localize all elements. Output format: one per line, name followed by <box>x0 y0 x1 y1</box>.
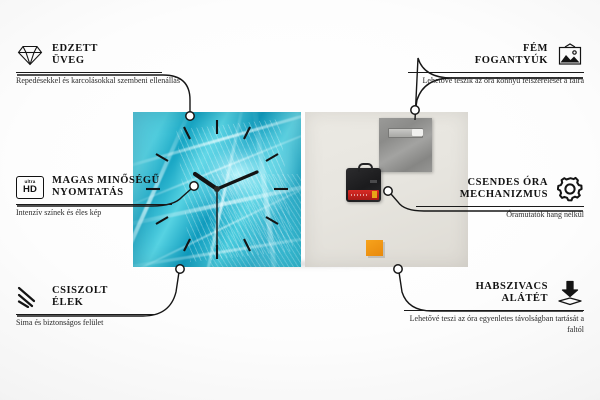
divider <box>408 72 584 73</box>
feature-subtitle: Repedésekkel és karcolásokkal szembeni e… <box>16 76 196 87</box>
feature-subtitle: Lehetővé teszi az óra egyenletes távolsá… <box>404 314 584 335</box>
feature-title: CSENDES ÓRA MECHANIZMUS <box>460 177 548 202</box>
foam-pad <box>366 240 383 256</box>
diamond-icon <box>16 41 44 69</box>
divider <box>16 72 162 73</box>
feature-title: HABSZIVACS ALÁTÉT <box>476 281 548 306</box>
feature-foam-pad: HABSZIVACS ALÁTÉT Lehetővé teszi az óra … <box>404 278 584 335</box>
ultra-hd-icon: ultra HD <box>16 173 44 201</box>
gear-icon <box>556 175 584 203</box>
feature-subtitle: Lehetővé teszik az óra könnyű felszerelé… <box>404 76 584 87</box>
foam-pad-arrow-icon <box>556 279 584 307</box>
feature-title: MAGAS MINŐSÉGŰ NYOMTATÁS <box>52 175 160 200</box>
feature-subtitle: Intenzív színek és éles kép <box>16 208 196 219</box>
feature-metal-handles: FÉM FOGANTYÚK Lehetővé teszik az óra kön… <box>404 40 584 87</box>
ultra-hd-icon-main-label: HD <box>23 185 37 195</box>
feature-title: FÉM FOGANTYÚK <box>475 43 548 68</box>
feature-header: EDZETT ÜVEG <box>16 40 196 70</box>
feature-subtitle: Sima és biztonságos felület <box>16 318 196 329</box>
divider <box>416 206 584 207</box>
battery <box>348 190 379 200</box>
feature-title: EDZETT ÜVEG <box>52 43 98 68</box>
feature-hd-print: ultra HD MAGAS MINŐSÉGŰ NYOMTATÁS Intenz… <box>16 172 196 219</box>
picture-hanger-icon <box>556 41 584 69</box>
feature-tempered-glass: EDZETT ÜVEG Repedésekkel és karcolásokka… <box>16 40 196 87</box>
feature-header: FÉM FOGANTYÚK <box>404 40 584 70</box>
feature-title: CSISZOLT ÉLEK <box>52 285 108 310</box>
infographic-canvas: EDZETT ÜVEG Repedésekkel és karcolásokka… <box>0 0 600 400</box>
feature-header: CSISZOLT ÉLEK <box>16 282 196 312</box>
clock-mechanism <box>346 168 381 202</box>
divider <box>16 314 156 315</box>
divider <box>16 204 172 205</box>
feature-header: HABSZIVACS ALÁTÉT <box>404 278 584 308</box>
feature-silent-mechanism: CSENDES ÓRA MECHANIZMUS Óramutatók hang … <box>404 174 584 221</box>
feature-polished-edges: CSISZOLT ÉLEK Sima és biztonságos felüle… <box>16 282 196 329</box>
hanger-loop <box>358 163 373 172</box>
feature-subtitle: Óramutatók hang nélkül <box>404 210 584 221</box>
metal-hanger-plate <box>379 118 432 172</box>
divider <box>404 310 584 311</box>
mechanism-slot <box>370 180 377 183</box>
feature-header: ultra HD MAGAS MINŐSÉGŰ NYOMTATÁS <box>16 172 196 202</box>
polished-edges-icon <box>16 283 44 311</box>
feature-header: CSENDES ÓRA MECHANIZMUS <box>404 174 584 204</box>
